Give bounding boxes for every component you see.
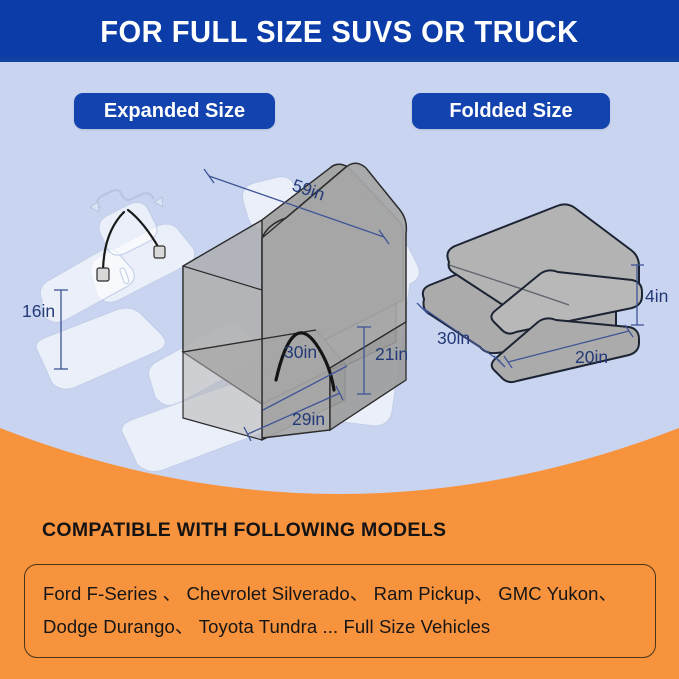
dim-tick-59in-start: [204, 169, 214, 183]
dim-label-30in: 30in: [284, 342, 317, 362]
strap-clip-left: [97, 268, 109, 281]
cover-left-hanging-panel: [183, 266, 262, 440]
compatibility-section: COMPATIBLE WITH FOLLOWING MODELS Ford F-…: [0, 498, 679, 679]
models-line-2: Dodge Durango、 Toyota Tundra ... Full Si…: [43, 610, 637, 643]
hook-arrow-right: [154, 197, 163, 207]
dim-label-16in: 16in: [22, 301, 55, 321]
dim-label-folded-30in: 30in: [437, 328, 470, 348]
dim-label-folded-20in: 20in: [575, 347, 608, 367]
hook-arrow-left: [90, 202, 99, 212]
infographic-page: FOR FULL SIZE SUVS OR TRUCK Expanded Siz…: [0, 0, 679, 679]
compatibility-heading: COMPATIBLE WITH FOLLOWING MODELS: [42, 521, 446, 541]
dim-label-folded-4in: 4in: [645, 286, 668, 306]
compatible-models-box: Ford F-Series 、 Chevrolet Silverado、 Ram…: [24, 564, 656, 658]
models-line-1: Ford F-Series 、 Chevrolet Silverado、 Ram…: [43, 577, 637, 610]
dim-label-21in: 21in: [375, 344, 408, 364]
dim-label-29in: 29in: [292, 409, 325, 429]
strap-clip-right: [154, 246, 165, 258]
